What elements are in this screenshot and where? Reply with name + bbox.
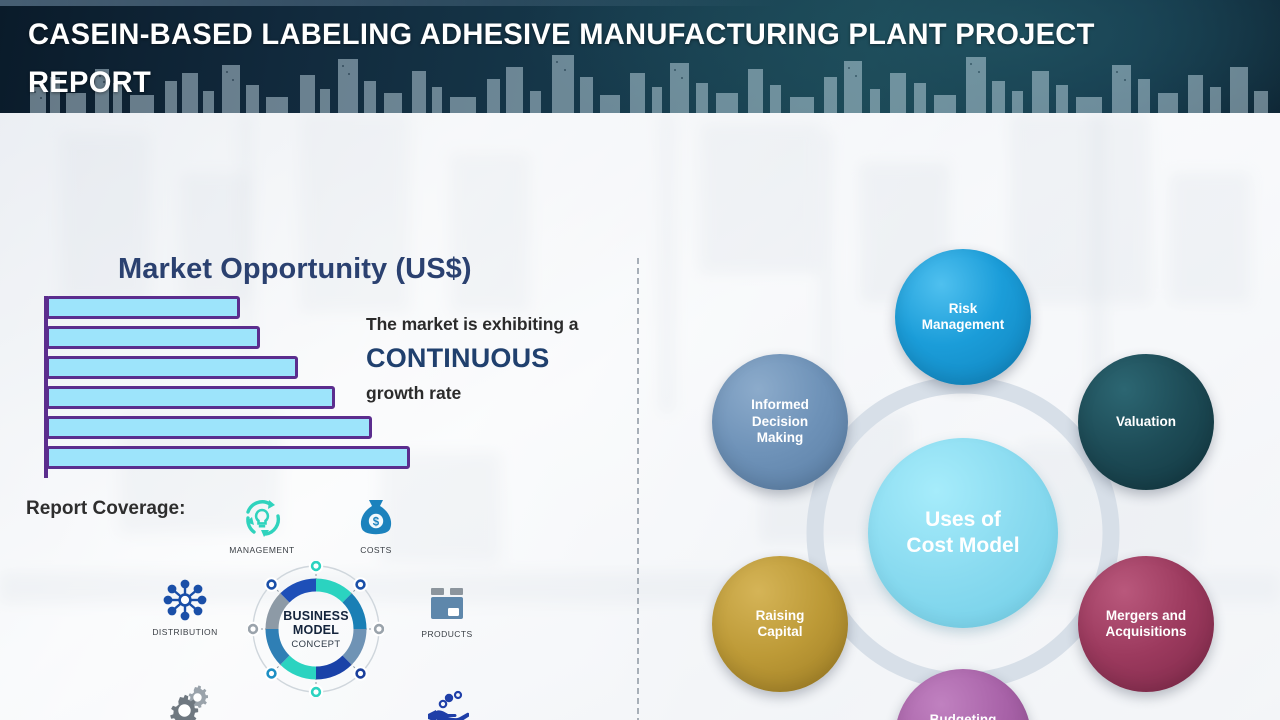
bar-item bbox=[46, 446, 410, 469]
slide-body: Market Opportunity (US$) The market is e… bbox=[0, 113, 1280, 720]
node-line: Risk bbox=[922, 301, 1005, 317]
bar-item bbox=[46, 386, 335, 409]
right-panel: Uses of Cost Model Risk Management Valua… bbox=[637, 226, 1280, 720]
coverage-item-products: PRODUCTS bbox=[395, 578, 499, 639]
node-line: Informed bbox=[751, 397, 809, 413]
svg-text:$: $ bbox=[373, 517, 380, 529]
node-line: Management bbox=[922, 317, 1005, 333]
bar-item bbox=[46, 326, 260, 349]
coverage-label: MANAGEMENT bbox=[210, 545, 314, 555]
node-line: Capital bbox=[756, 624, 805, 640]
bar-item bbox=[46, 416, 372, 439]
coverage-item-distribution: DISTRIBUTION bbox=[133, 576, 237, 637]
center-line-1: Uses of bbox=[906, 507, 1019, 533]
coverage-label: COSTS bbox=[324, 545, 428, 555]
coverage-label: PRODUCTS bbox=[395, 629, 499, 639]
report-coverage-title: Report Coverage: bbox=[26, 498, 185, 520]
bar-item bbox=[46, 356, 298, 379]
recycle-bulb-icon bbox=[210, 494, 314, 540]
page-title: CASEIN-BASED LABELING ADHESIVE MANUFACTU… bbox=[28, 11, 1114, 107]
box-package-icon bbox=[395, 578, 499, 624]
header-top-highlight bbox=[0, 0, 780, 6]
money-bag-icon: $ bbox=[324, 494, 428, 540]
note-line-1: The market is exhibiting a bbox=[366, 314, 634, 335]
gears-icon bbox=[133, 681, 237, 720]
business-model-donut: BUSINESS MODEL CONCEPT bbox=[248, 561, 384, 697]
note-line-highlight: CONTINUOUS bbox=[366, 343, 634, 374]
node-risk-management[interactable]: Risk Management bbox=[895, 249, 1031, 385]
coverage-label: DISTRIBUTION bbox=[133, 627, 237, 637]
coverage-item-costs: $ COSTS bbox=[324, 494, 428, 555]
node-line: Budgeting bbox=[925, 712, 1002, 720]
node-line: Acquisitions bbox=[1105, 624, 1186, 640]
network-hub-icon bbox=[133, 576, 237, 622]
node-line: Decision bbox=[751, 414, 809, 430]
center-line-2: Cost Model bbox=[906, 533, 1019, 559]
node-mergers-acquisitions[interactable]: Mergers and Acquisitions bbox=[1078, 556, 1214, 692]
header-banner: CASEIN-BASED LABELING ADHESIVE MANUFACTU… bbox=[0, 0, 1280, 113]
node-valuation[interactable]: Valuation bbox=[1078, 354, 1214, 490]
node-line: Valuation bbox=[1116, 414, 1176, 430]
coverage-item-management: MANAGEMENT bbox=[210, 494, 314, 555]
node-center-uses-of-cost-model[interactable]: Uses of Cost Model bbox=[868, 438, 1058, 628]
left-panel: Market Opportunity (US$) The market is e… bbox=[0, 226, 637, 720]
hand-coins-icon bbox=[395, 684, 499, 720]
node-line: Making bbox=[751, 430, 809, 446]
node-line: Mergers and bbox=[1105, 608, 1186, 624]
node-raising-capital[interactable]: Raising Capital bbox=[712, 556, 848, 692]
note-line-3: growth rate bbox=[366, 383, 634, 404]
node-line: Raising bbox=[756, 608, 805, 624]
coverage-item-revenue: REVENUE bbox=[395, 684, 499, 720]
bar-item bbox=[46, 296, 240, 319]
node-informed-decision-making[interactable]: Informed Decision Making bbox=[712, 354, 848, 490]
market-opportunity-title: Market Opportunity (US$) bbox=[118, 253, 472, 286]
market-opportunity-bar-chart bbox=[20, 296, 420, 478]
coverage-item-services: SERVICES bbox=[133, 681, 237, 720]
market-growth-note: The market is exhibiting a CONTINUOUS gr… bbox=[366, 314, 634, 404]
